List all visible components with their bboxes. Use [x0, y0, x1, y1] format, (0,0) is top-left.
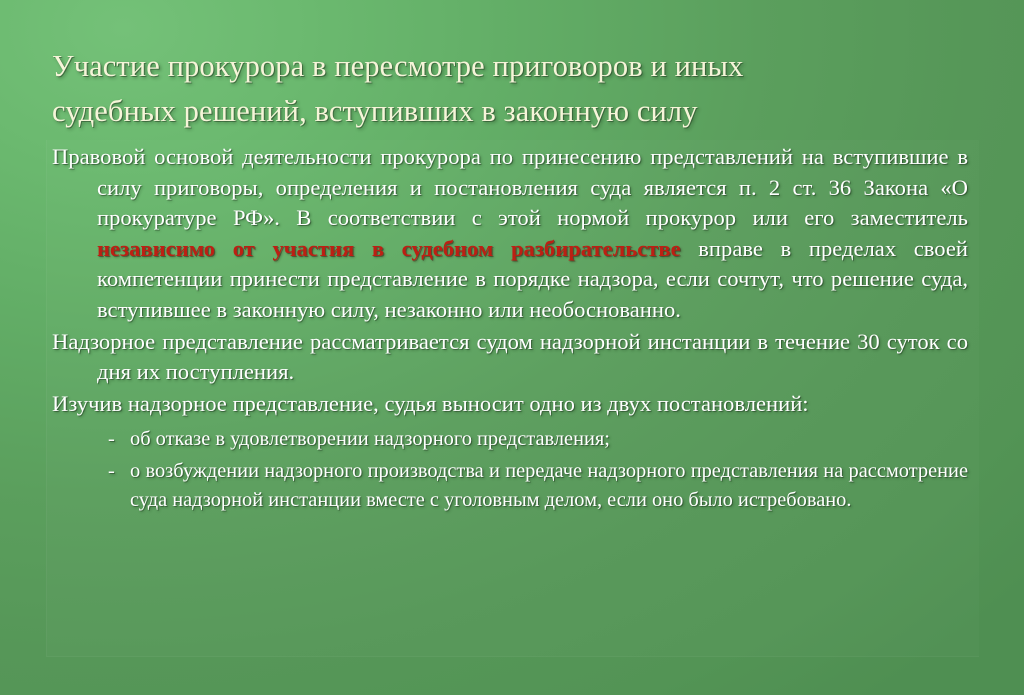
list-item: -об отказе в удовлетворении надзорного п… [52, 425, 968, 454]
paragraph-text-before-accent: основой деятельности прокурора по принес… [97, 144, 968, 230]
body-placeholder: Правовой основой деятельности прокурора … [52, 142, 968, 517]
paragraph-legal-basis: Правовой основой деятельности прокурора … [52, 142, 968, 326]
accent-phrase: независимо от участия в судебном разбира… [97, 236, 681, 261]
paragraph-lead-word: Правовой [52, 144, 145, 169]
list-item-label: о возбуждении надзорного производства и … [130, 460, 968, 511]
paragraph-lead-word: Надзорное [52, 329, 155, 354]
slide-title: Участие прокурора в пересмотре приговоро… [52, 44, 952, 134]
paragraph-judge-decisions: Изучив надзорное представление, судья вы… [52, 389, 968, 420]
dash-bullet-icon: - [108, 457, 115, 486]
paragraph-review-term: Надзорное представление рассматривается … [52, 327, 968, 388]
list-item-label: об отказе в удовлетворении надзорного пр… [130, 428, 610, 450]
title-placeholder: Участие прокурора в пересмотре приговоро… [52, 44, 952, 134]
bullet-list: -об отказе в удовлетворении надзорного п… [52, 425, 968, 515]
list-item: -о возбуждении надзорного производства и… [52, 457, 968, 515]
paragraph-text-before-accent: представление рассматривается судом надз… [97, 329, 968, 385]
paragraph-lead-word: Изучив [52, 391, 122, 416]
paragraph-text-before-accent: надзорное представление, судья выносит о… [122, 391, 808, 416]
dash-bullet-icon: - [108, 425, 115, 454]
presentation-slide: Участие прокурора в пересмотре приговоро… [0, 0, 1024, 695]
